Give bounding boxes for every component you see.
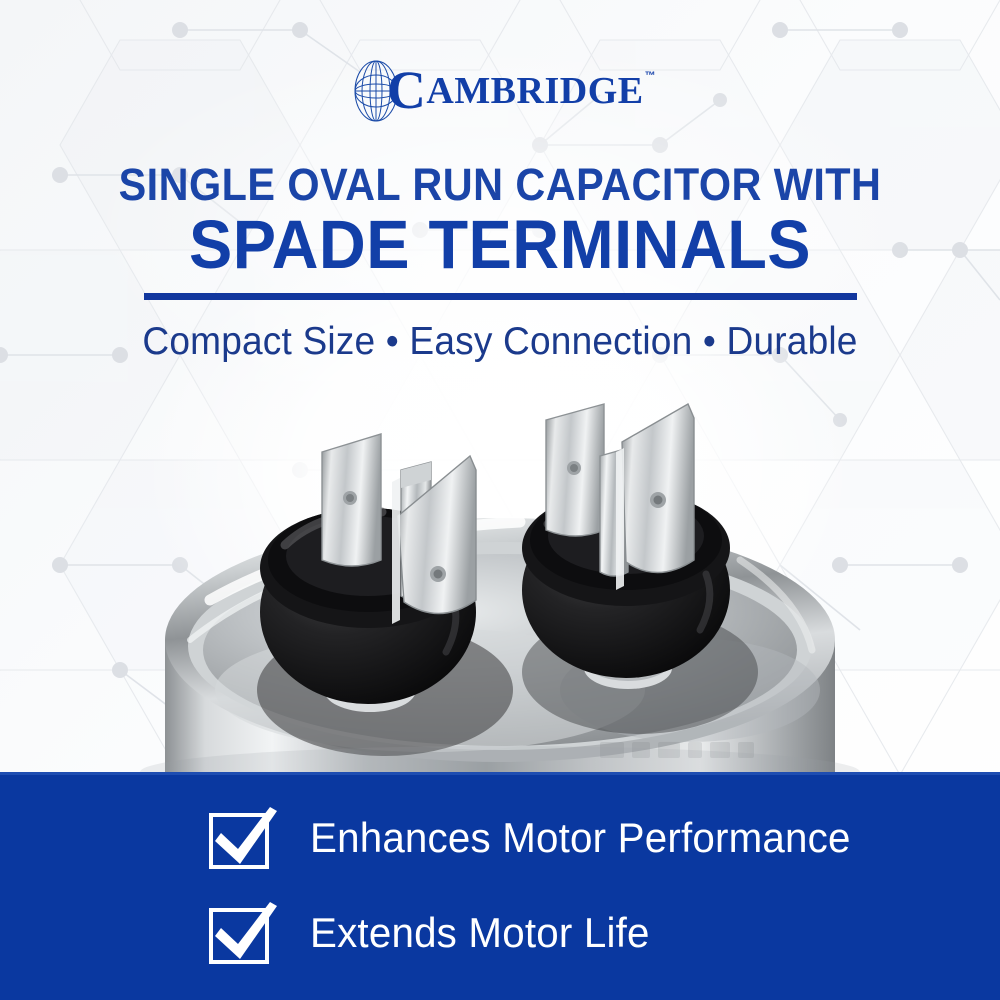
brand-wordmark: CAMBRIDGE™: [387, 69, 655, 113]
headline-line-2: SPADE TERMINALS: [30, 208, 970, 282]
feature-label: Extends Motor Life: [310, 909, 650, 957]
trademark-symbol: ™: [645, 70, 657, 82]
headline-divider: [144, 293, 857, 300]
feature-label: Enhances Motor Performance: [310, 814, 851, 862]
brand-initial: C: [387, 60, 427, 120]
headline-line-1: SINGLE OVAL RUN CAPACITOR WITH: [40, 160, 960, 210]
subheadline: Compact Size • Easy Connection • Durable: [25, 320, 975, 364]
checkbox-checked-icon: [207, 900, 279, 966]
feature-row: Enhances Motor Performance: [207, 805, 873, 871]
feature-row: Extends Motor Life: [207, 900, 664, 966]
checkbox-checked-icon: [207, 805, 279, 871]
brand-name: AMBRIDGE: [426, 70, 643, 112]
product-infographic: CAMBRIDGE™ SINGLE OVAL RUN CAPACITOR WIT…: [0, 0, 1000, 1000]
brand-logo: CAMBRIDGE™: [0, 60, 1000, 122]
banner-top-edge: [0, 772, 1000, 775]
feature-banner: Enhances Motor Performance Extends Motor…: [0, 772, 1000, 1000]
headline-block: SINGLE OVAL RUN CAPACITOR WITH SPADE TER…: [0, 160, 1000, 364]
